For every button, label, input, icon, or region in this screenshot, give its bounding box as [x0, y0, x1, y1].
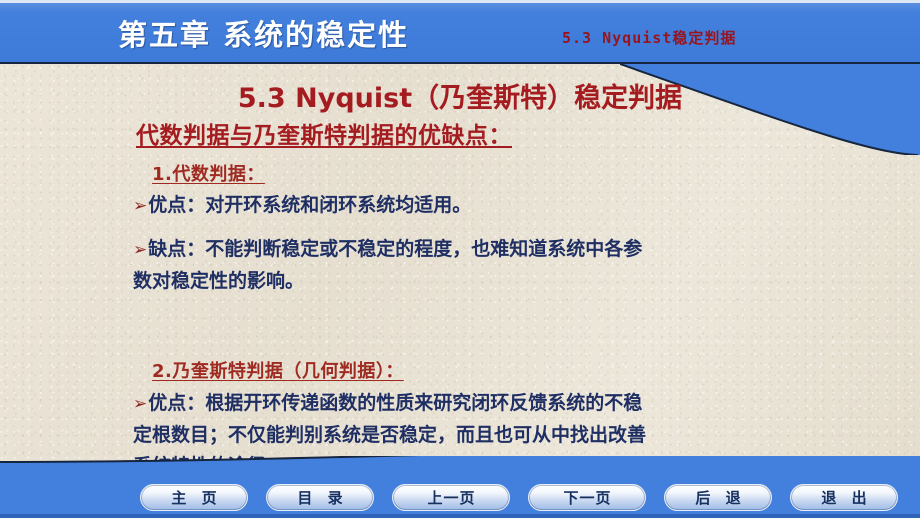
bullet-item: ➢优点：对开环系统和闭环系统均适用。	[133, 190, 833, 222]
bullet-text: 优点：根据开环传递函数的性质来研究闭环反馈系统的不稳	[148, 392, 642, 414]
bullet-text: 缺点：不能判断稳定或不稳定的程度，也难知道系统中各参	[148, 238, 642, 260]
navigation-bar: 主 页 目 录 上一页 下一页 后 退 退 出	[0, 482, 920, 512]
bullet-text: 优点：对开环系统和闭环系统均适用。	[148, 194, 471, 216]
section-label: 5.3 Nyquist稳定判据	[562, 27, 736, 48]
slide-title: 5.3 Nyquist（乃奎斯特）稳定判据	[0, 76, 920, 115]
main-heading: 代数判据与乃奎斯特判据的优缺点：	[136, 116, 512, 150]
nav-button-prev-page[interactable]: 上一页	[392, 484, 510, 511]
bullet-arrow-icon: ➢	[133, 240, 147, 260]
nav-button-contents[interactable]: 目 录	[266, 484, 374, 511]
slide-canvas: 第五章 系统的稳定性 5.3 Nyquist稳定判据 5.3 Nyquist（乃…	[0, 0, 920, 518]
bullet-arrow-icon: ➢	[133, 196, 147, 216]
nav-button-home[interactable]: 主 页	[140, 484, 248, 511]
nav-button-exit[interactable]: 退 出	[790, 484, 898, 511]
bullet-arrow-icon: ➢	[133, 394, 147, 414]
page-title: 第五章 系统的稳定性	[118, 12, 409, 54]
section-heading-2: 2.乃奎斯特判据（几何判据）：	[152, 357, 404, 383]
slide-content: 5.3 Nyquist（乃奎斯特）稳定判据 代数判据与乃奎斯特判据的优缺点： 1…	[0, 64, 920, 460]
bullet-text-cont: 数对稳定性的影响。	[133, 270, 304, 292]
bullet-item: ➢缺点：不能判断稳定或不稳定的程度，也难知道系统中各参 数对稳定性的影响。	[133, 234, 833, 297]
nav-button-next-page[interactable]: 下一页	[528, 484, 646, 511]
section-heading-1: 1.代数判据：	[152, 160, 265, 186]
bullet-text-cont: 定根数目；不仅能判别系统是否稳定，而且也可从中找出改善	[133, 424, 646, 446]
nav-button-back[interactable]: 后 退	[664, 484, 772, 511]
